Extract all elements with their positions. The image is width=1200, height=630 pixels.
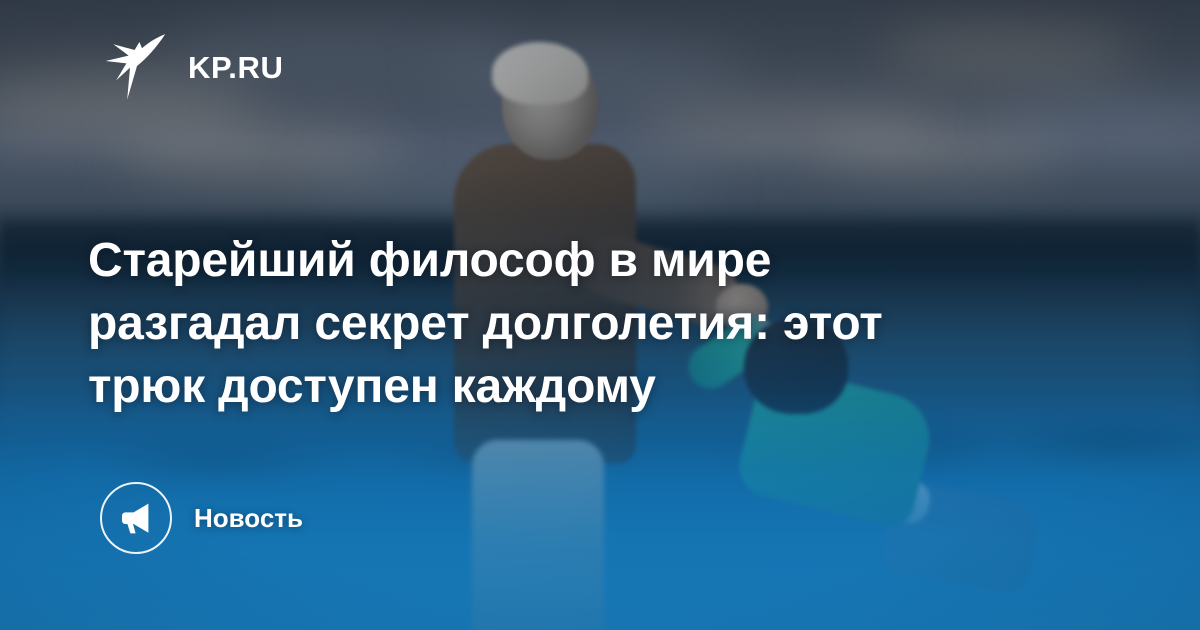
social-preview-card: KP.RU Старейший философ в мире разгадал … (0, 0, 1200, 630)
swallow-bird-icon (104, 33, 166, 101)
page-title: Старейший философ в мире разгадал секрет… (88, 229, 1088, 418)
brand-wordmark: KP.RU (188, 52, 283, 83)
megaphone-icon (100, 482, 172, 554)
headline-line-2: разгадал секрет долголетия: этот (88, 292, 1088, 355)
status-badge[interactable]: Новость (100, 482, 303, 554)
status-badge-label: Новость (194, 505, 303, 531)
brand-logo[interactable]: KP.RU (104, 33, 283, 101)
headline-line-3: трюк доступен каждому (88, 355, 1088, 418)
headline-line-1: Старейший философ в мире (88, 229, 1088, 292)
